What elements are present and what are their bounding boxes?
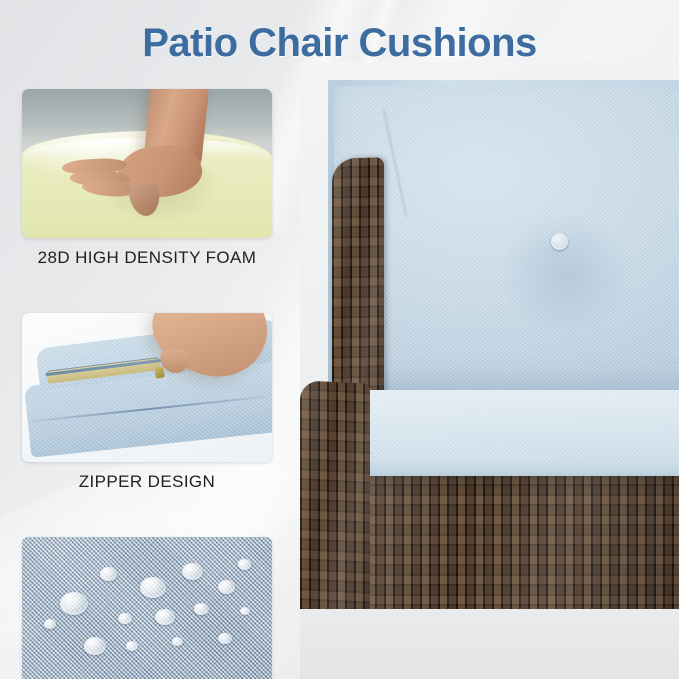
feature-image-easy-care-fabric [22, 537, 272, 679]
feature-item-easy-care-fabric: EASY CARE FABRIC [22, 537, 272, 679]
water-droplet [100, 567, 117, 581]
feature-image-high-density-foam [22, 89, 272, 238]
tufting-dimple [500, 212, 630, 332]
feature-caption-high-density-foam: 28D HIGH DENSITY FOAM [22, 248, 272, 268]
zipper-pull-icon [154, 366, 165, 378]
woven-fabric-texture [22, 537, 272, 679]
wicker-gloss [348, 476, 679, 626]
feature-image-zipper-design [22, 313, 272, 462]
infographic-canvas: Patio Chair Cushions 28D HIGH DENSITY FO… [0, 0, 679, 679]
hero-product-image [300, 62, 679, 679]
feature-item-high-density-foam: 28D HIGH DENSITY FOAM [22, 89, 272, 268]
water-droplet [44, 619, 56, 629]
back-cushion-top-piping [328, 80, 679, 86]
feature-item-zipper-design: ZIPPER DESIGN [22, 313, 272, 492]
water-droplet [126, 641, 138, 651]
water-droplet [60, 592, 88, 615]
hero-floor [300, 609, 679, 679]
feature-caption-zipper-design: ZIPPER DESIGN [22, 472, 272, 492]
tufted-button [551, 233, 568, 250]
water-droplet [218, 580, 235, 594]
water-droplet [84, 637, 106, 655]
water-droplet [172, 637, 183, 646]
water-droplet [238, 559, 251, 570]
page-title: Patio Chair Cushions [0, 21, 679, 66]
wicker-chair-base [348, 476, 679, 626]
feature-list: 28D HIGH DENSITY FOAM ZIPPER DESIGN [22, 89, 272, 679]
